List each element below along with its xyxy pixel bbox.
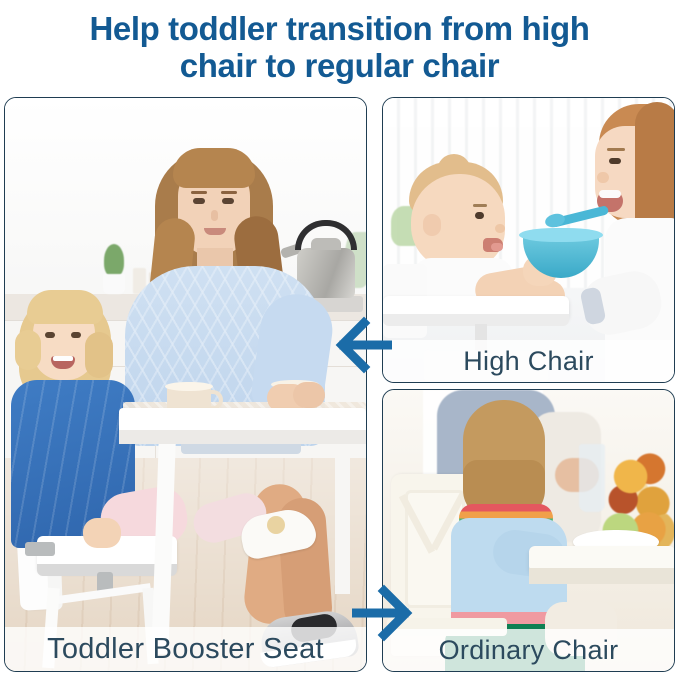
woman-teeth (599, 190, 621, 198)
panel-toddler-booster-seat[interactable]: Toddler Booster Seat (4, 97, 367, 672)
toddler-curl-left (15, 330, 41, 370)
mother-hair-fringe (173, 148, 255, 188)
infographic-page: { "headline": { "text": "Help toddler tr… (0, 0, 679, 679)
mother-eyebrow-right (221, 191, 237, 194)
baby-eyebrow (473, 204, 487, 207)
caption-ordinary-chair: Ordinary Chair (383, 629, 674, 671)
mother-eye-left (193, 198, 205, 204)
dining-table-edge (119, 430, 366, 444)
woman-nose (597, 172, 609, 183)
dining-table-underside (529, 568, 674, 584)
caption-toddler-booster-seat: Toddler Booster Seat (5, 627, 366, 671)
toddler-teeth (53, 356, 73, 361)
arrow-left-icon (334, 316, 392, 374)
arrow-from-high-chair-to-booster (334, 316, 392, 374)
woman-eye (609, 158, 621, 164)
bowl-rim (519, 228, 603, 242)
woman-eyebrow (607, 148, 625, 151)
mother-mouth (204, 228, 226, 235)
mother-hand-right (293, 382, 325, 408)
scene-toddler-booster-seat (5, 98, 366, 671)
table-leg-back (335, 444, 350, 594)
baby-eye (475, 212, 484, 219)
booster-strap-side (25, 542, 55, 556)
sneaker-star-detail (267, 516, 285, 534)
potted-plant-leaves (104, 244, 124, 277)
baby-tongue (491, 243, 503, 251)
panel-high-chair[interactable]: High Chair (382, 97, 675, 383)
arrow-from-booster-to-ordinary-chair (352, 584, 414, 642)
cup-rim-left (165, 382, 213, 391)
toddler-hair-fringe (27, 290, 103, 324)
toddler-eye-right (71, 332, 81, 338)
mother-eye-right (222, 198, 234, 204)
toddler-hand (83, 518, 121, 548)
mother-nose (211, 210, 218, 221)
mother-eyebrow-left (191, 191, 207, 194)
caption-high-chair: High Chair (383, 340, 674, 382)
baby-nose (495, 224, 505, 233)
arrow-right-icon (352, 584, 414, 642)
panel-ordinary-chair[interactable]: Ordinary Chair (382, 389, 675, 672)
panel-grid: Toddler Booster Seat (0, 94, 679, 679)
page-title: Help toddler transition from high chair … (0, 10, 679, 84)
baby-ear (423, 214, 441, 236)
plant-pot (103, 274, 125, 294)
toddler-curl-right (85, 332, 113, 378)
toddler-eye-left (45, 332, 55, 338)
